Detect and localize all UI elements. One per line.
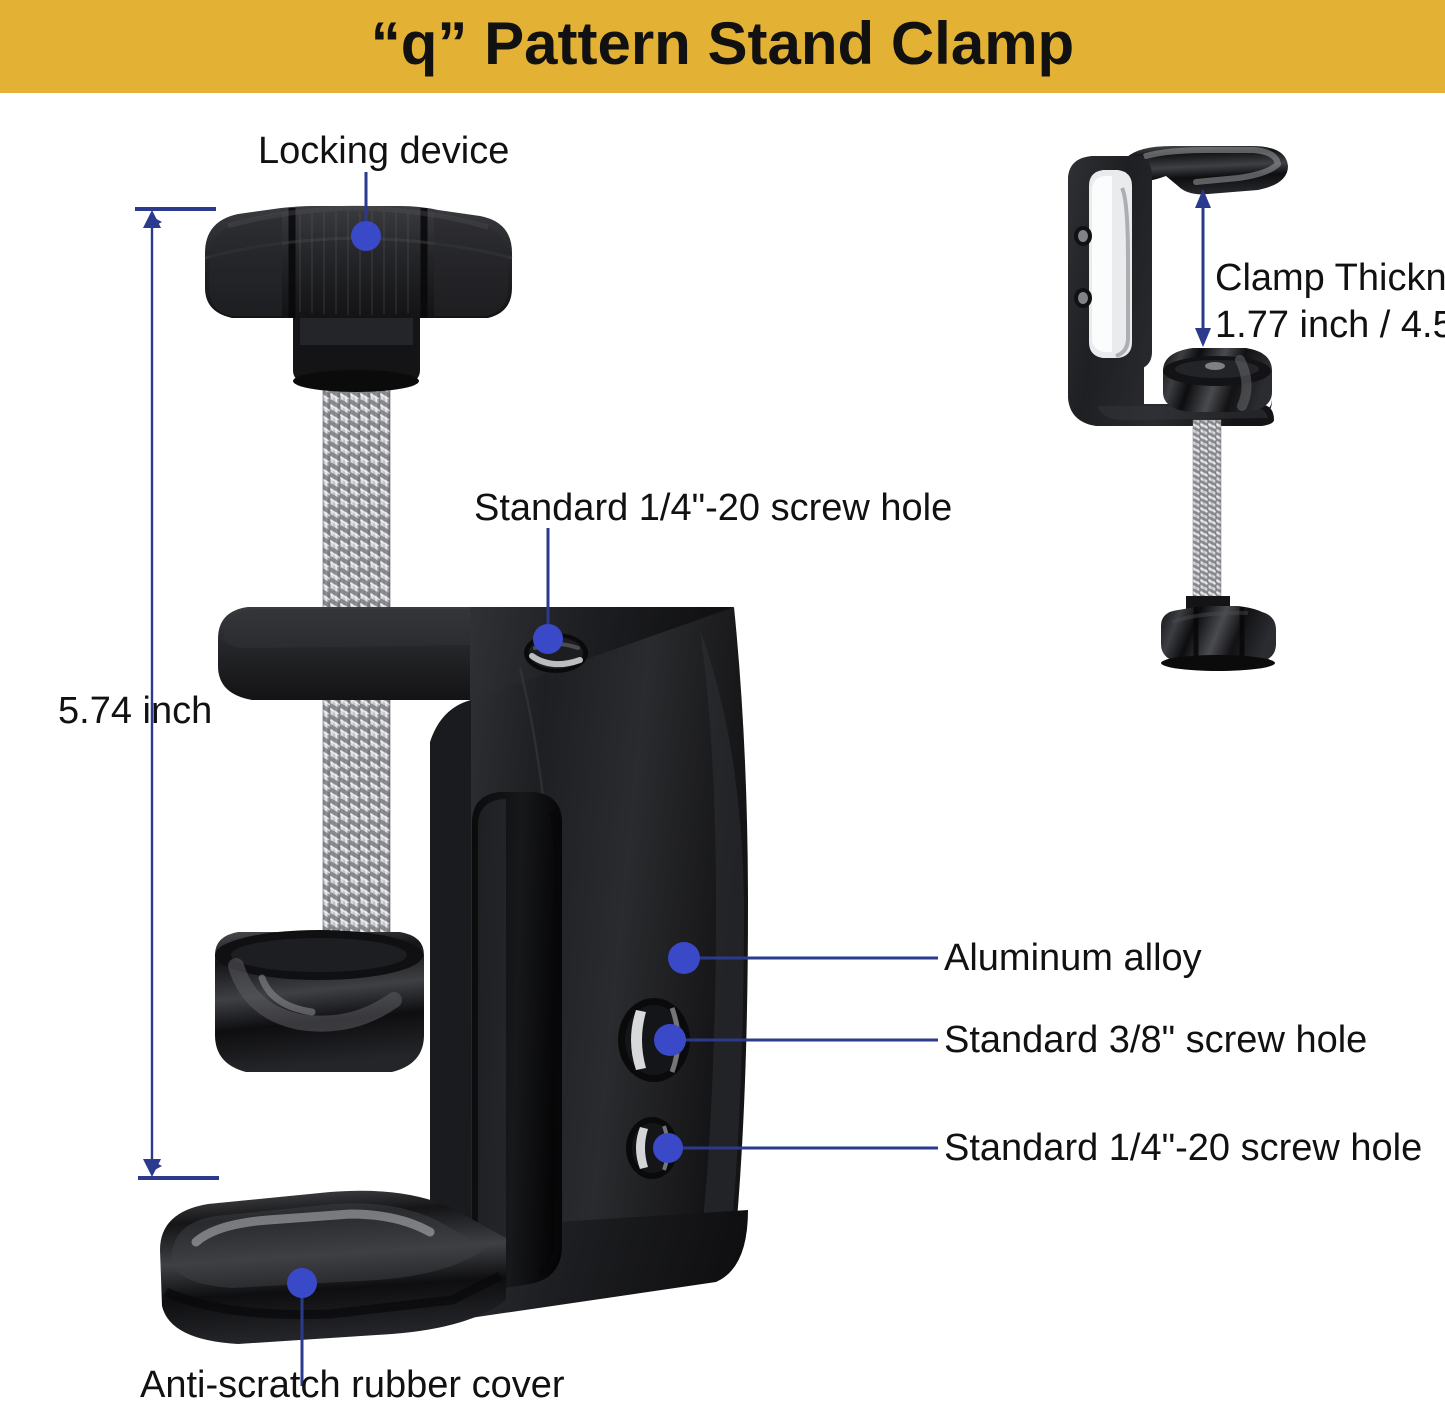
side-locking-knob	[1161, 596, 1276, 671]
callout-label-top-screw-hole: Standard 1/4"-20 screw hole	[474, 485, 952, 531]
locking-knob	[205, 206, 512, 392]
main-clamp-illustration	[160, 206, 748, 1344]
side-pressure-pad	[1163, 348, 1272, 412]
lower-quarter-screw-hole	[626, 1117, 678, 1179]
anti-scratch-rubber-cover	[160, 1191, 506, 1344]
side-clamp-illustration	[1068, 146, 1288, 671]
product-diagram-page: “q” Pattern Stand Clamp	[0, 0, 1445, 1412]
callout-label-rubber-cover: Anti-scratch rubber cover	[140, 1362, 565, 1408]
dimension-label-overall-height: 5.74 inch	[58, 690, 212, 733]
product-artwork	[0, 0, 1445, 1412]
screw-pressure-pad	[215, 930, 424, 1072]
callout-label-locking-device: Locking device	[258, 128, 509, 174]
three-eighths-screw-hole	[618, 998, 690, 1082]
callout-label-three-eighths-screw-hole: Standard 3/8" screw hole	[944, 1017, 1367, 1063]
callout-label-aluminum-alloy: Aluminum alloy	[944, 935, 1202, 981]
top-quarter-screw-hole	[524, 633, 588, 673]
callout-label-quarter-twenty-screw-hole: Standard 1/4"-20 screw hole	[944, 1125, 1422, 1171]
side-threaded-rod	[1193, 420, 1221, 606]
dimension-label-clamp-thickness-line1: Clamp Thickness:	[1215, 255, 1445, 301]
dimension-label-clamp-thickness-line2: 1.77 inch / 4.5 cm	[1215, 302, 1445, 348]
